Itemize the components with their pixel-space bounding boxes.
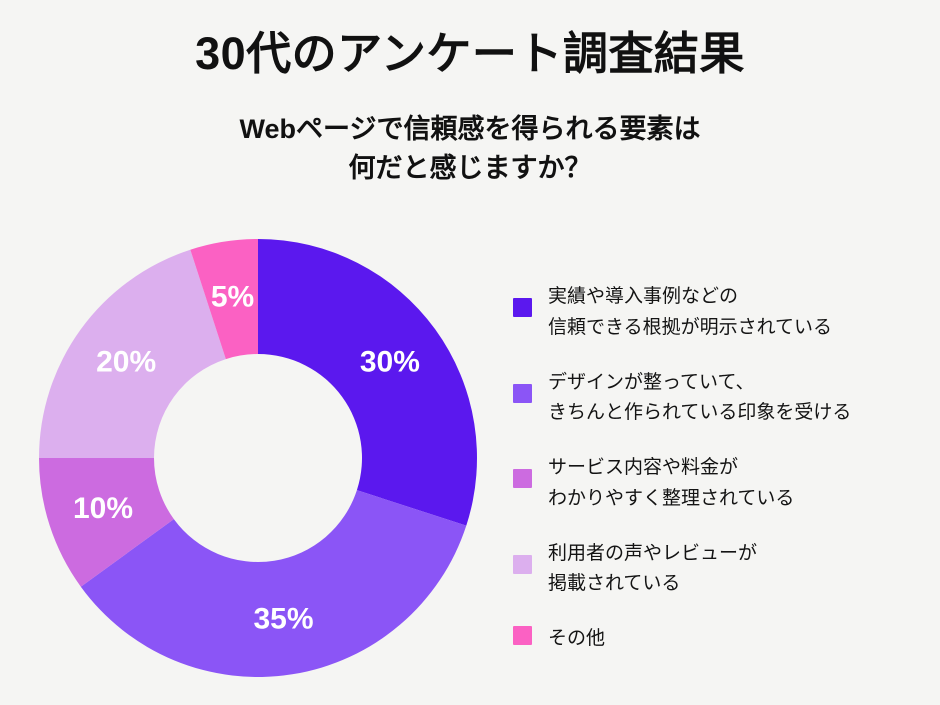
- legend-color-swatch: [513, 298, 532, 317]
- legend-item[interactable]: その他: [513, 624, 923, 655]
- donut-chart-svg: 30%35%10%20%5%: [38, 238, 478, 678]
- page-subtitle-line-1: Webページで信頼感を得られる要素は: [0, 110, 940, 149]
- chart-legend: 実績や導入事例などの 信頼できる根拠が明示されているデザインが整っていて、 きち…: [513, 282, 923, 655]
- legend-item-label: 実績や導入事例などの 信頼できる根拠が明示されている: [548, 282, 832, 344]
- page-title: 30代のアンケート調査結果: [0, 28, 940, 80]
- slide-canvas: 30代のアンケート調査結果 Webページで信頼感を得られる要素は 何だと感じます…: [0, 0, 940, 705]
- donut-chart: 30%35%10%20%5%: [38, 238, 478, 678]
- donut-slice[interactable]: [258, 239, 477, 526]
- legend-item-label: サービス内容や料金が わかりやすく整理されている: [548, 453, 794, 515]
- legend-color-swatch: [513, 384, 532, 403]
- page-subtitle-line-2: 何だと感じますか？: [0, 149, 940, 188]
- donut-slice-label: 20%: [96, 346, 156, 379]
- legend-color-swatch: [513, 626, 532, 645]
- donut-slice-label: 30%: [360, 346, 420, 379]
- legend-item[interactable]: 利用者の声やレビューが 掲載されている: [513, 539, 923, 601]
- donut-slice-label: 35%: [253, 602, 313, 635]
- legend-item[interactable]: 実績や導入事例などの 信頼できる根拠が明示されている: [513, 282, 923, 344]
- legend-color-swatch: [513, 469, 532, 488]
- page-subtitle: Webページで信頼感を得られる要素は 何だと感じますか？: [0, 110, 940, 188]
- legend-color-swatch: [513, 555, 532, 574]
- legend-item[interactable]: サービス内容や料金が わかりやすく整理されている: [513, 453, 923, 515]
- legend-item-label: その他: [548, 624, 605, 655]
- legend-item[interactable]: デザインが整っていて、 きちんと作られている印象を受ける: [513, 368, 923, 430]
- legend-item-label: デザインが整っていて、 きちんと作られている印象を受ける: [548, 368, 851, 430]
- legend-item-label: 利用者の声やレビューが 掲載されている: [548, 539, 757, 601]
- donut-slice-label: 10%: [73, 492, 133, 525]
- donut-slice-label: 5%: [211, 281, 254, 314]
